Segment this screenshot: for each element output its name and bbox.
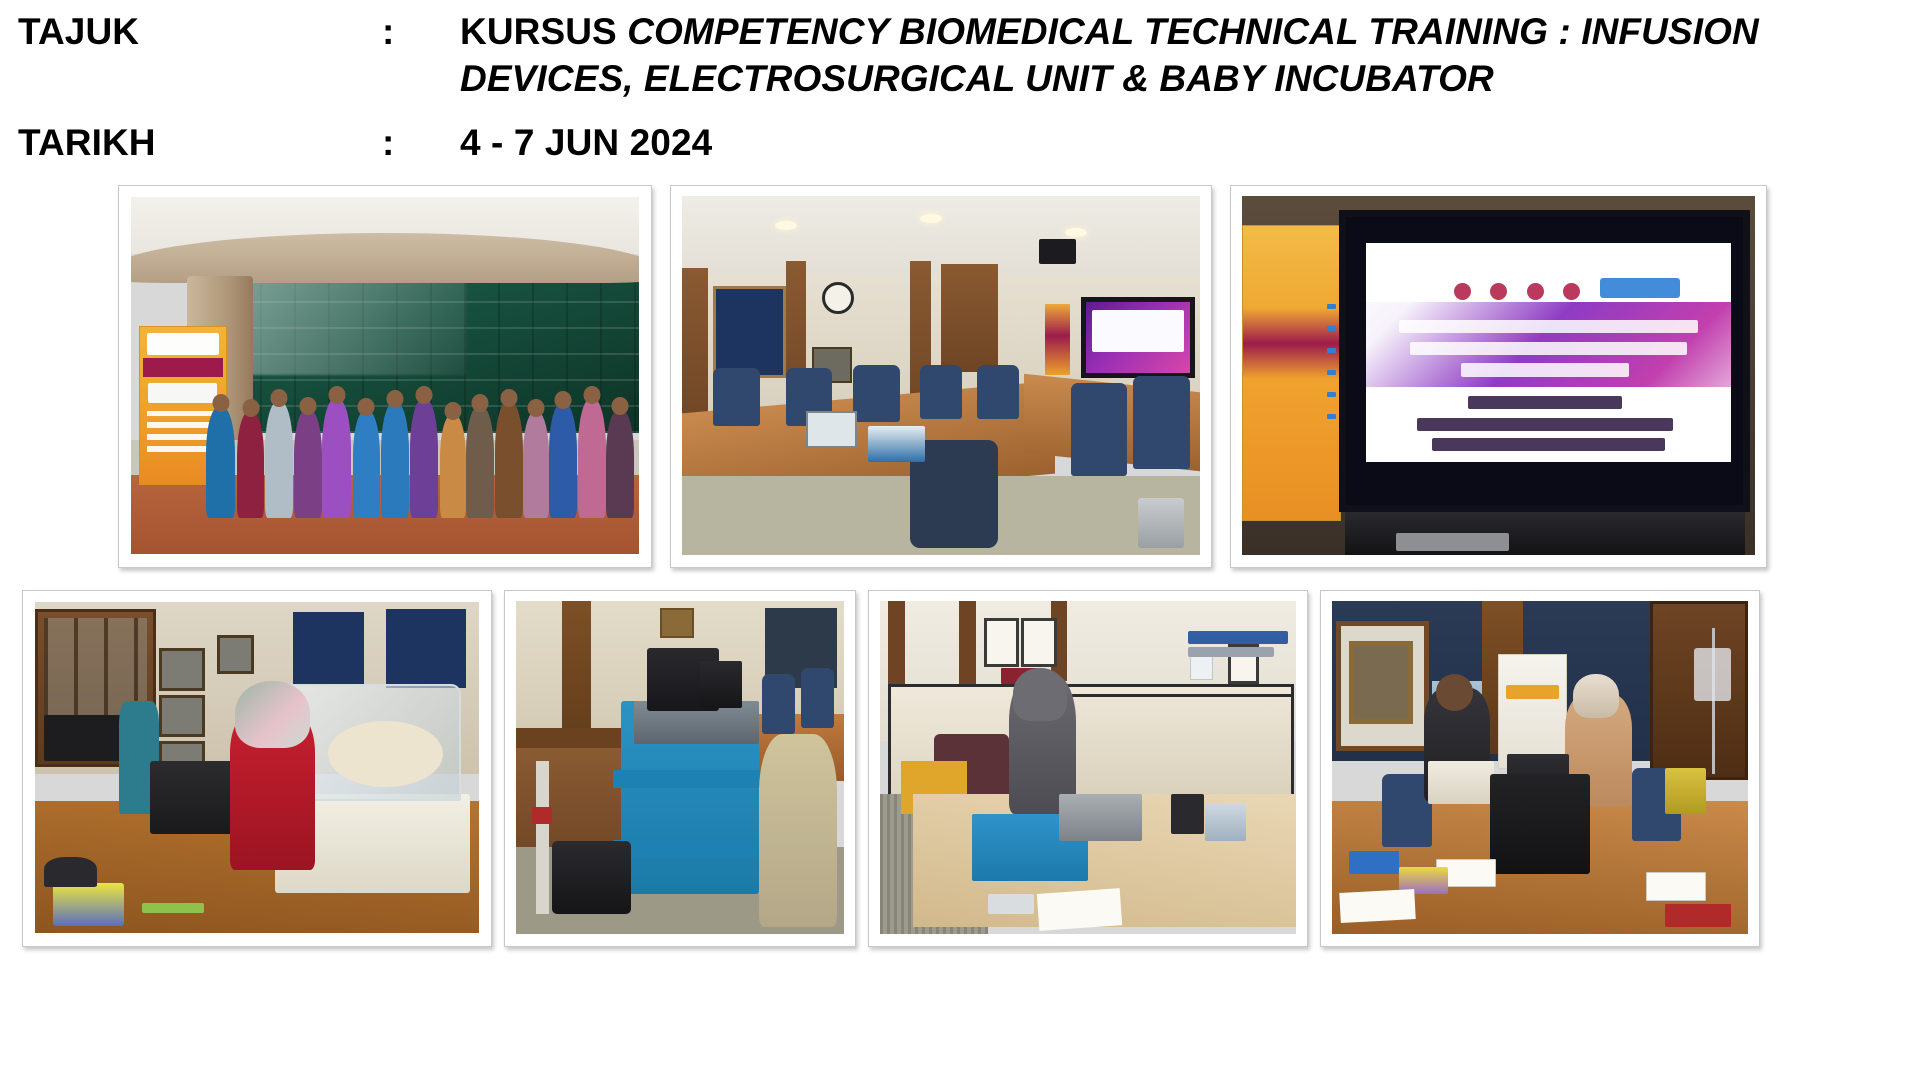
header-row-tarikh: TARIKH : 4 - 7 JUN 2024 [0, 119, 1920, 166]
photo-frame-office-testing [868, 590, 1308, 947]
header-value-tajuk-title: COMPETENCY BIOMEDICAL TECHNICAL TRAINING… [460, 11, 1759, 99]
photo-row-top [0, 185, 1920, 568]
header-label-tajuk: TAJUK [0, 8, 382, 55]
table-tent-test [1646, 872, 1706, 901]
scene-electrosurgical-cart [516, 601, 844, 934]
infusion-pump-ppm [1428, 761, 1495, 804]
participants-group [202, 383, 639, 519]
photo-incubator-handson [35, 602, 479, 933]
document-header: TAJUK : KURSUS COMPETENCY BIOMEDICAL TEC… [0, 0, 1920, 166]
scene-group-photo-outdoor [131, 197, 639, 554]
photo-infusion-station [1332, 601, 1748, 934]
header-label-tarikh: TARIKH [0, 119, 382, 166]
header-row-tajuk: TAJUK : KURSUS COMPETENCY BIOMEDICAL TEC… [0, 8, 1920, 103]
photo-frame-infusion-station [1320, 590, 1760, 947]
photo-gallery [0, 185, 1920, 947]
photo-row-bottom [0, 590, 1920, 947]
scene-office-testing [880, 601, 1296, 934]
safety-standing-banner [1498, 654, 1567, 769]
header-separator-tarikh: : [382, 119, 460, 166]
photo-group-photo [131, 197, 639, 554]
photo-frame-classroom-session [670, 185, 1212, 568]
photo-office-testing [880, 601, 1296, 934]
header-value-tajuk-prefix: KURSUS [460, 11, 627, 52]
scene-baby-incubator-handson [35, 602, 479, 933]
photo-electrosurgical-cart [516, 601, 844, 934]
header-separator-tajuk: : [382, 8, 460, 55]
screen-side-controls [1327, 304, 1338, 426]
photo-frame-presentation-screen [1230, 185, 1767, 568]
photo-frame-electrosurgical-cart [504, 590, 856, 947]
photo-frame-incubator-handson [22, 590, 492, 947]
scene-infusion-device-station [1332, 601, 1748, 934]
photo-classroom-session [682, 196, 1200, 555]
photo-presentation-screen [1242, 196, 1755, 555]
header-value-tarikh: 4 - 7 JUN 2024 [460, 119, 1920, 166]
header-value-tajuk: KURSUS COMPETENCY BIOMEDICAL TECHNICAL T… [460, 8, 1920, 103]
scene-meeting-room-session [682, 196, 1200, 555]
sektor-biomedikal-sign [1188, 631, 1288, 661]
scene-presentation-screen [1242, 196, 1755, 555]
title-slide [1366, 243, 1731, 462]
photo-frame-group-photo [118, 185, 652, 568]
presentation-display [1339, 210, 1749, 512]
